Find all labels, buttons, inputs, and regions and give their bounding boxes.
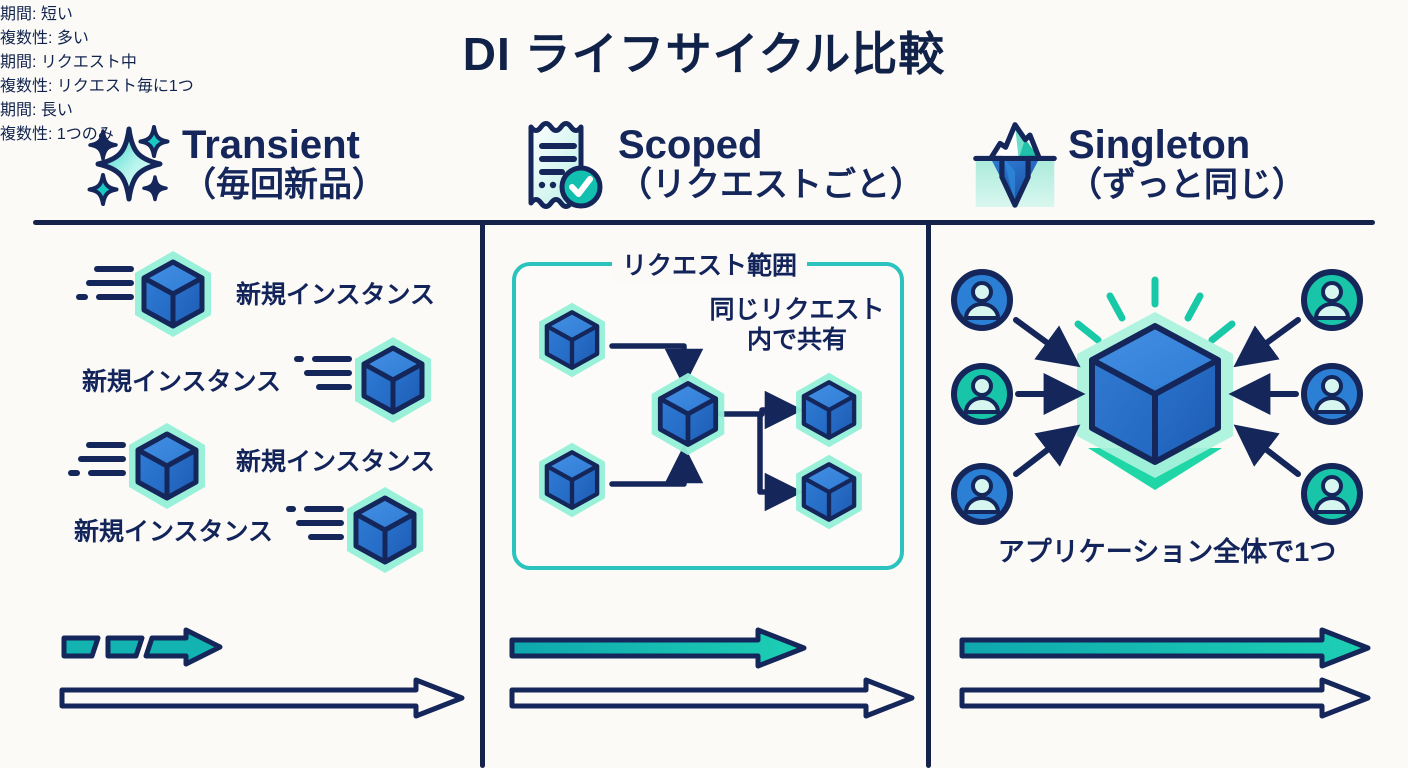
consumer-avatar — [1304, 366, 1360, 422]
sparkles-icon — [86, 116, 172, 212]
instance-label: 新規インスタンス — [74, 512, 273, 548]
column-header-singleton: Singleton （ずっと同じ） — [972, 108, 1306, 220]
motion-lines — [74, 262, 136, 311]
scoped-shared-cube — [645, 370, 731, 458]
multiplicity-arrow-scoped — [508, 678, 918, 718]
instance-cube — [122, 420, 212, 512]
singleton-consumer-diagram — [950, 268, 1380, 558]
receipt-check-icon — [522, 116, 608, 212]
duration-arrow-transient — [60, 628, 230, 670]
column-header-scoped: Scoped （リクエストごと） — [522, 108, 924, 220]
column-subtitle-singleton: （ずっと同じ） — [1068, 168, 1306, 204]
column-divider-right — [926, 222, 931, 768]
motion-lines — [284, 502, 346, 551]
instance-label: 新規インスタンス — [236, 442, 435, 478]
column-divider-left — [480, 222, 485, 768]
consumer-avatar — [954, 272, 1010, 328]
column-title-transient: Transient — [182, 124, 386, 166]
consumer-avatar — [954, 366, 1010, 422]
scoped-cube — [790, 370, 868, 450]
scoped-cube — [533, 300, 611, 380]
consumer-avatar — [1304, 466, 1360, 522]
instance-cube — [340, 484, 430, 576]
column-title-scoped: Scoped — [618, 124, 924, 166]
consumer-avatar — [1304, 272, 1360, 328]
column-header-transient: Transient （毎回新品） — [86, 108, 386, 220]
scoped-cube — [533, 440, 611, 520]
column-subtitle-scoped: （リクエストごと） — [618, 168, 924, 204]
motion-lines — [292, 352, 354, 401]
multiplicity-arrow-transient — [58, 678, 468, 718]
header-divider — [33, 220, 1375, 225]
iceberg-icon — [972, 116, 1058, 212]
consumer-avatar — [954, 466, 1010, 522]
instance-cube — [128, 248, 218, 340]
instance-label: 新規インスタンス — [82, 362, 281, 398]
infographic-canvas: DI ライフサイクル比較 Transient （毎回新品） — [0, 0, 1408, 768]
multiplicity-arrow-singleton — [958, 678, 1376, 718]
column-title-singleton: Singleton — [1068, 124, 1306, 166]
instance-cube — [348, 334, 438, 426]
column-subtitle-transient: （毎回新品） — [182, 168, 386, 204]
duration-arrow-scoped — [508, 628, 918, 668]
instance-label: 新規インスタンス — [236, 275, 435, 311]
duration-arrow-singleton — [958, 628, 1376, 668]
singleton-caption: アプリケーション全体で1つ — [926, 530, 1408, 569]
scoped-cube — [790, 452, 868, 532]
page-title: DI ライフサイクル比較 — [0, 18, 1408, 84]
motion-lines — [66, 438, 128, 487]
